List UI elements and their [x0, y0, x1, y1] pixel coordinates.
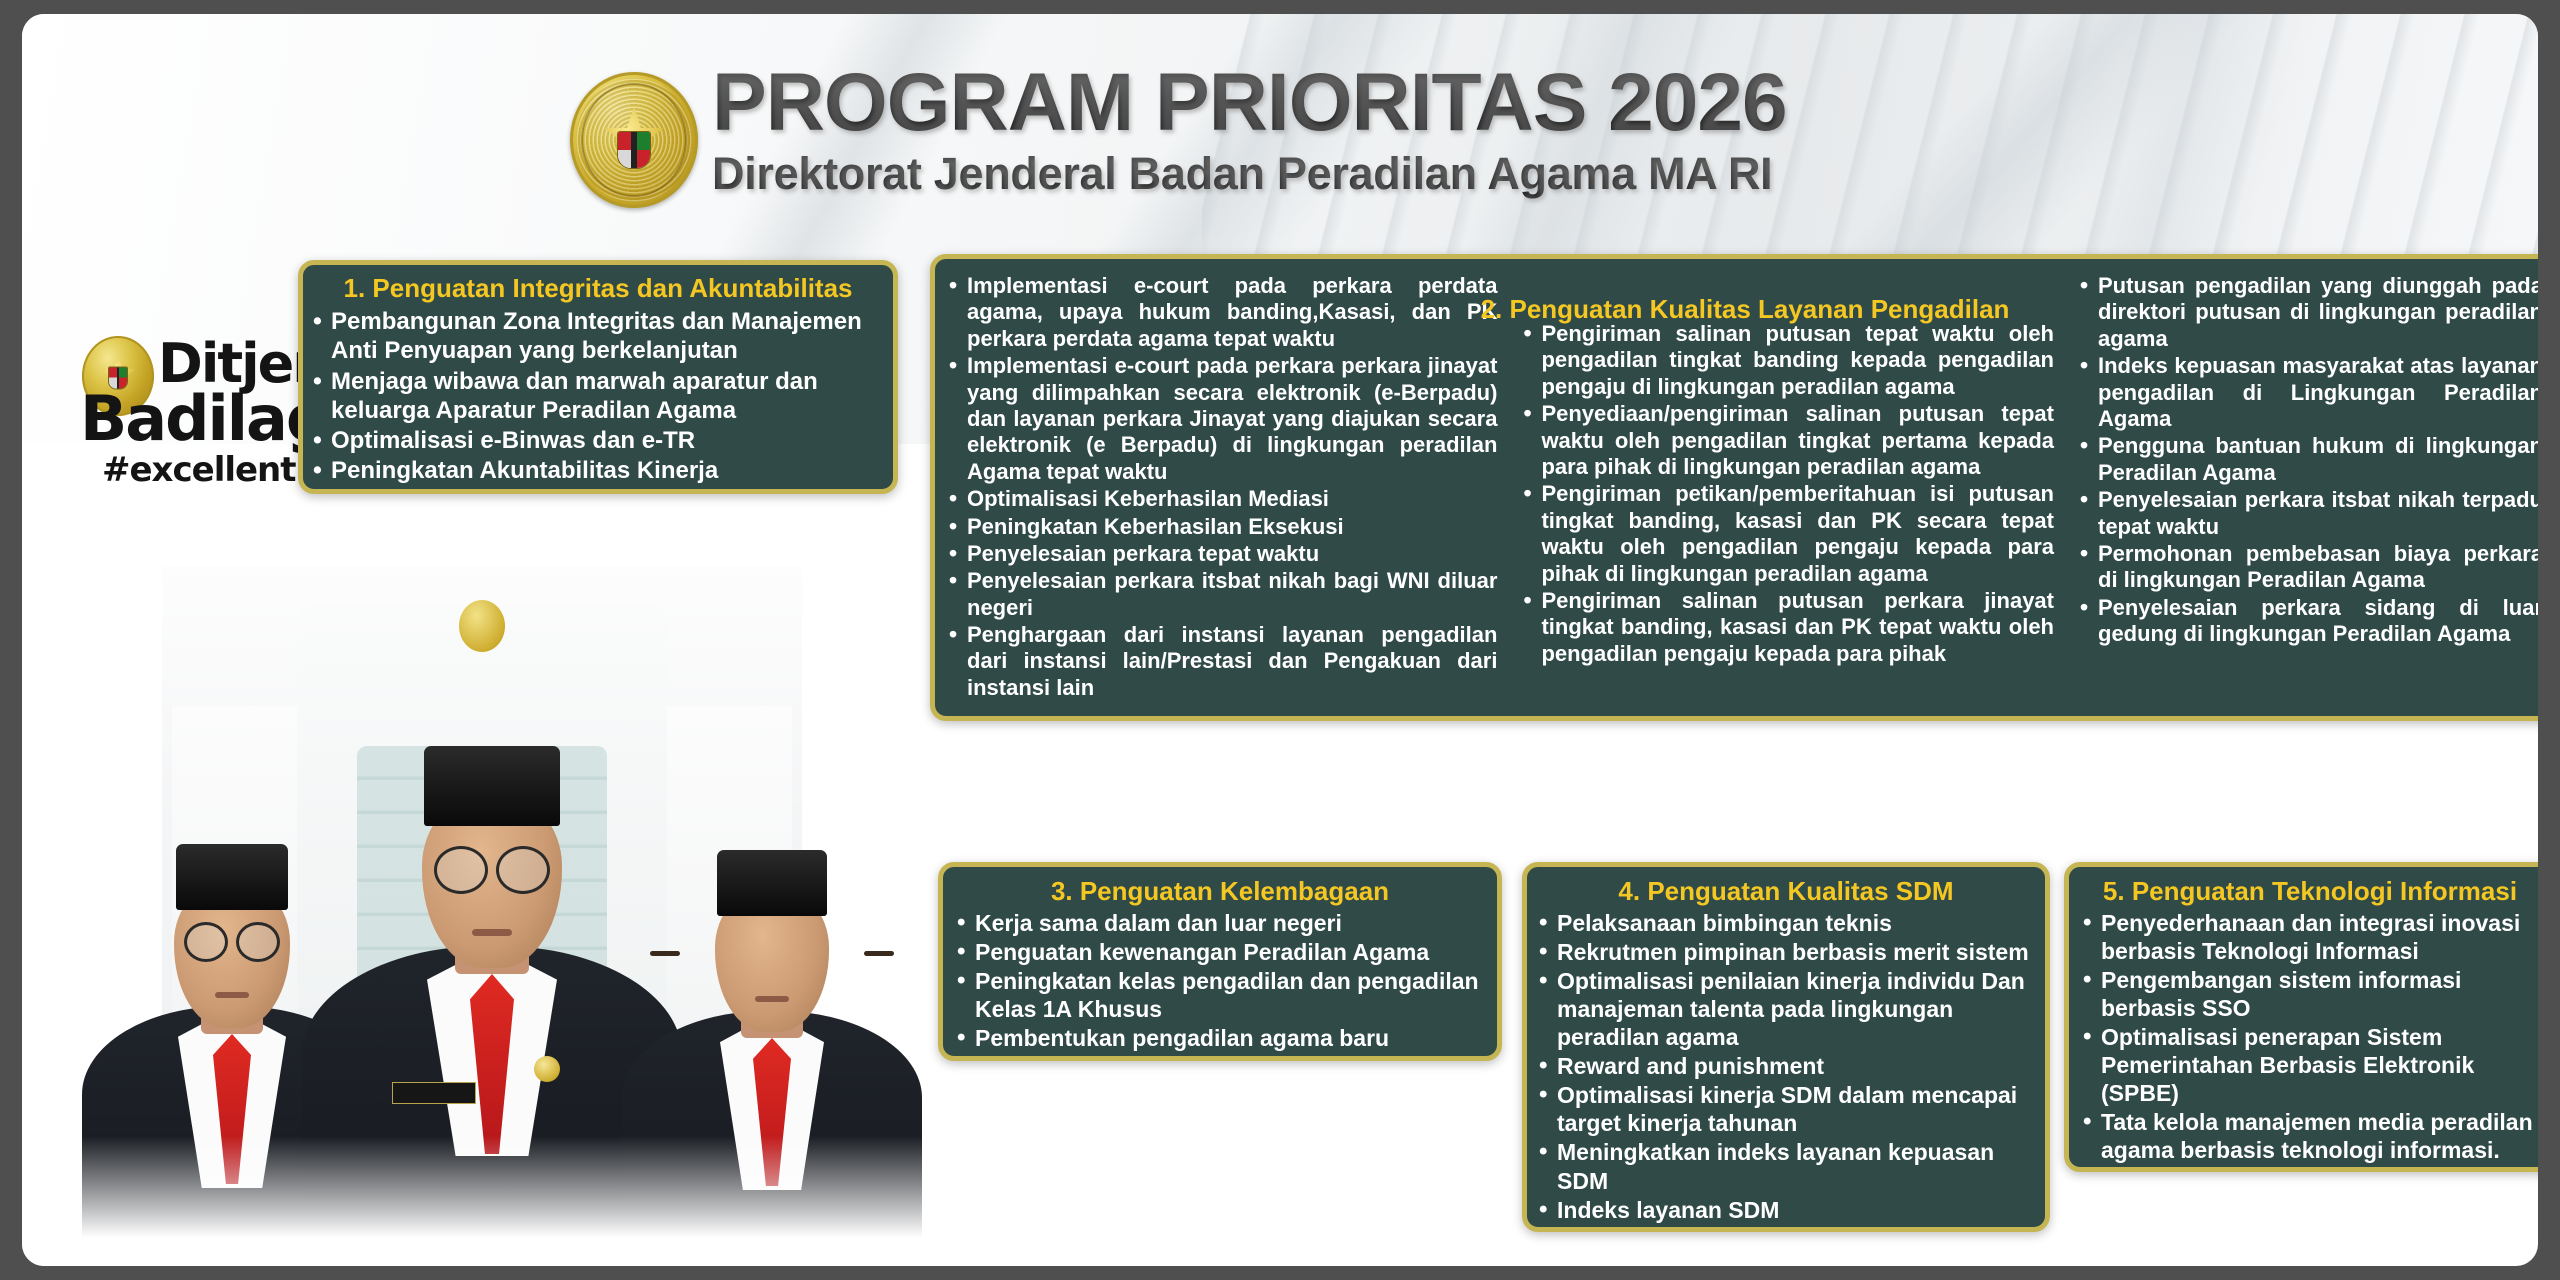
- list-item: Pelaksanaan bimbingan teknis: [1537, 909, 2035, 937]
- list-item: Pembentukan pengadilan agama baru: [955, 1024, 1483, 1052]
- card1-list: Pembangunan Zona Integritas dan Manajeme…: [311, 307, 879, 486]
- photo-fade: [22, 1136, 942, 1266]
- list-item: Permohonan pembebasan biaya perkara di l…: [2078, 541, 2538, 594]
- title-block: PROGRAM PRIORITAS 2026 Direktorat Jender…: [712, 62, 1787, 200]
- list-item: Pengguna bantuan hukum di lingkungan Per…: [2078, 433, 2538, 486]
- mahkamah-agung-seal-icon: [570, 72, 698, 208]
- card1-title: 1. Penguatan Integritas dan Akuntabilita…: [303, 274, 893, 303]
- card2-column-a: Implementasi e-court pada perkara perdat…: [935, 259, 1509, 702]
- card2-title: 2. Penguatan Kualitas Layanan Pengadilan: [935, 295, 2538, 324]
- list-item: Pengiriman salinan putusan perkara jinay…: [1521, 588, 2054, 667]
- list-item: Penyelesaian perkara itsbat nikah terpad…: [2078, 487, 2538, 540]
- card-penguatan-integritas[interactable]: 1. Penguatan Integritas dan Akuntabilita…: [298, 260, 898, 494]
- list-item: Peningkatan Keberhasilan Eksekusi: [947, 514, 1497, 540]
- card2-list-b: Pengiriman salinan putusan tepat waktu o…: [1521, 321, 2054, 667]
- name-tag: [392, 1082, 476, 1104]
- list-item: Pengiriman salinan putusan tepat waktu o…: [1521, 321, 2054, 400]
- list-item: Indeks kepuasan masyarakat atas layanan …: [2078, 353, 2538, 432]
- list-item: Pembangunan Zona Integritas dan Manajeme…: [311, 307, 879, 366]
- card2-column-c: Putusan pengadilan yang diunggah pada di…: [2066, 259, 2538, 702]
- card-penguatan-kualitas-layanan[interactable]: Implementasi e-court pada perkara perdat…: [930, 254, 2538, 721]
- card5-list: Penyederhanaan dan integrasi inovasi ber…: [2081, 909, 2538, 1164]
- list-item: Pengembangan sistem informasi berbasis S…: [2081, 966, 2538, 1022]
- page-title: PROGRAM PRIORITAS 2026: [712, 62, 1787, 144]
- list-item: Penyederhanaan dan integrasi inovasi ber…: [2081, 909, 2538, 965]
- card2-list-c: Putusan pengadilan yang diunggah pada di…: [2078, 273, 2538, 647]
- card-penguatan-teknologi-informasi[interactable]: 5. Penguatan Teknologi Informasi Penyede…: [2064, 862, 2538, 1172]
- list-item: Rekrutmen pimpinan berbasis merit sistem: [1537, 938, 2035, 966]
- list-item: Optimalisasi e-Binwas dan e-TR: [311, 426, 879, 455]
- list-item: Optimalisasi kinerja SDM dalam mencapai …: [1537, 1081, 2035, 1137]
- badilag-logo-line2: Badilag: [80, 382, 328, 455]
- list-item: Penghargaan dari instansi layanan pengad…: [947, 622, 1497, 701]
- list-item: Penyelesaian perkara sidang di luar gedu…: [2078, 595, 2538, 648]
- badilag-logo-line3: #excellent: [102, 450, 296, 490]
- list-item: Penguatan kewenangan Peradilan Agama: [955, 938, 1483, 966]
- list-item: Implementasi e-court pada perkara perkar…: [947, 353, 1497, 485]
- list-item: Optimalisasi penerapan Sistem Pemerintah…: [2081, 1023, 2538, 1107]
- list-item: Meningkatkan indeks layanan kepuasan SDM: [1537, 1138, 2035, 1194]
- badilag-logo: Ditjen Badilag #excellent: [80, 322, 320, 502]
- list-item: Penyelesaian perkara itsbat nikah bagi W…: [947, 568, 1497, 621]
- page-subtitle: Direktorat Jenderal Badan Peradilan Agam…: [712, 148, 1787, 200]
- list-item: Kerja sama dalam dan luar negeri: [955, 909, 1483, 937]
- list-item: Indeks layanan SDM: [1537, 1196, 2035, 1224]
- list-item: Pengiriman petikan/pemberitahuan isi put…: [1521, 481, 2054, 587]
- card-penguatan-kelembagaan[interactable]: 3. Penguatan Kelembagaan Kerja sama dala…: [938, 862, 1502, 1061]
- list-item: Optimalisasi penilaian kinerja individu …: [1537, 967, 2035, 1051]
- slide-canvas: PROGRAM PRIORITAS 2026 Direktorat Jender…: [22, 14, 2538, 1266]
- card4-list: Pelaksanaan bimbingan teknis Rekrutmen p…: [1537, 909, 2035, 1224]
- list-item: Reward and punishment: [1537, 1052, 2035, 1080]
- card3-title: 3. Penguatan Kelembagaan: [943, 877, 1497, 906]
- officials-photo: [22, 546, 942, 1266]
- list-item: Optimalisasi Keberhasilan Mediasi: [947, 486, 1497, 512]
- list-item: Tata kelola manajemen media peradilan ag…: [2081, 1108, 2538, 1164]
- card4-title: 4. Penguatan Kualitas SDM: [1527, 877, 2045, 906]
- list-item: Penyelesaian perkara tepat waktu: [947, 541, 1497, 567]
- header: PROGRAM PRIORITAS 2026 Direktorat Jender…: [22, 14, 2538, 254]
- list-item: Penyediaan/pengiriman salinan putusan te…: [1521, 401, 2054, 480]
- list-item: Menjaga wibawa dan marwah aparatur dan k…: [311, 367, 879, 426]
- list-item: Peningkatan kelas pengadilan dan pengadi…: [955, 967, 1483, 1023]
- card3-list: Kerja sama dalam dan luar negeri Penguat…: [955, 909, 1483, 1052]
- card-penguatan-kualitas-sdm[interactable]: 4. Penguatan Kualitas SDM Pelaksanaan bi…: [1522, 862, 2050, 1232]
- card5-title: 5. Penguatan Teknologi Informasi: [2069, 877, 2538, 906]
- card2-column-b: Pengiriman salinan putusan tepat waktu o…: [1509, 259, 2066, 702]
- list-item: Peningkatan Akuntabilitas Kinerja: [311, 456, 879, 485]
- card2-list-a: Implementasi e-court pada perkara perdat…: [947, 273, 1497, 701]
- outer-frame: PROGRAM PRIORITAS 2026 Direktorat Jender…: [0, 0, 2560, 1280]
